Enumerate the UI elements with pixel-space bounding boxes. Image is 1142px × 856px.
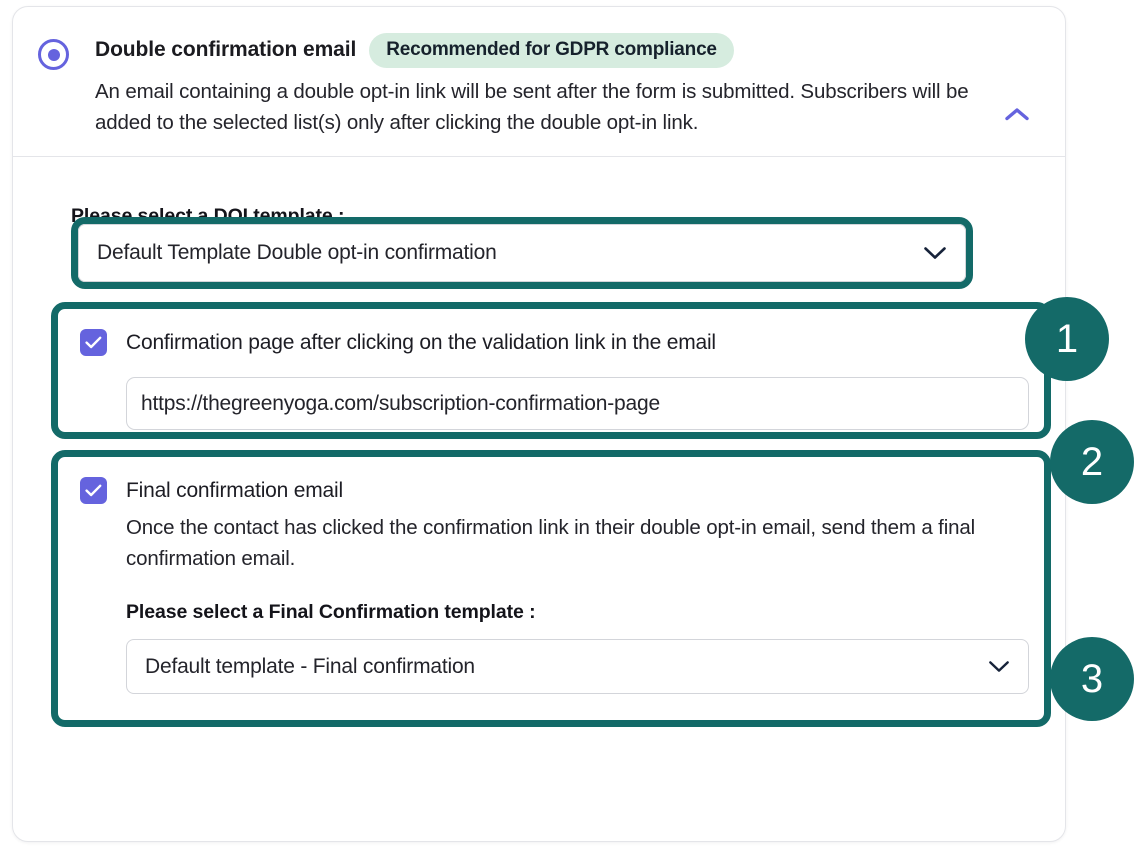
final-template-selected-value: Default template - Final confirmation	[145, 655, 988, 679]
chevron-down-icon	[923, 246, 947, 261]
final-template-label: Please select a Final Confirmation templ…	[126, 601, 1022, 624]
option-title-row: Double confirmation email Recommended fo…	[95, 34, 1065, 66]
check-icon	[85, 336, 102, 349]
status-badge: Recommended for GDPR compliance	[369, 33, 734, 68]
card-header: Double confirmation email Recommended fo…	[13, 7, 1065, 157]
step-marker-2: 2	[1050, 420, 1134, 504]
final-confirmation-inner: Final confirmation email Once the contac…	[58, 457, 1044, 694]
final-confirmation-description: Once the contact has clicked the confirm…	[126, 512, 1016, 574]
check-icon	[85, 484, 102, 497]
confirmation-page-block: Confirmation page after clicking on the …	[51, 302, 1051, 439]
confirmation-page-url-input[interactable]: https://thegreenyoga.com/subscription-co…	[126, 377, 1029, 430]
double-confirmation-radio[interactable]	[38, 39, 69, 70]
card-body: Please select a DOI template : Default T…	[13, 157, 1065, 228]
doi-template-select[interactable]: Default Template Double opt-in confirmat…	[78, 224, 966, 282]
final-confirmation-block: Final confirmation email Once the contac…	[51, 450, 1051, 727]
final-template-select[interactable]: Default template - Final confirmation	[126, 639, 1029, 694]
final-confirmation-label: Final confirmation email	[126, 477, 343, 504]
doi-template-selected-value: Default Template Double opt-in confirmat…	[97, 241, 923, 265]
step-marker-3: 3	[1050, 637, 1134, 721]
option-description: An email containing a double opt-in link…	[95, 76, 1010, 138]
page-title: Double confirmation email	[95, 38, 356, 62]
double-confirmation-card: Double confirmation email Recommended fo…	[12, 6, 1066, 842]
confirmation-page-row: Confirmation page after clicking on the …	[80, 329, 1022, 356]
final-confirmation-checkbox[interactable]	[80, 477, 107, 504]
radio-selected-dot	[48, 49, 60, 61]
confirmation-page-inner: Confirmation page after clicking on the …	[58, 309, 1044, 430]
confirmation-page-checkbox[interactable]	[80, 329, 107, 356]
step-marker-1: 1	[1025, 297, 1109, 381]
chevron-up-icon[interactable]	[1000, 99, 1034, 129]
final-confirmation-row: Final confirmation email	[80, 477, 1022, 504]
chevron-down-icon	[988, 660, 1010, 674]
doi-template-highlight: Default Template Double opt-in confirmat…	[71, 217, 973, 289]
confirmation-page-label: Confirmation page after clicking on the …	[126, 329, 716, 356]
